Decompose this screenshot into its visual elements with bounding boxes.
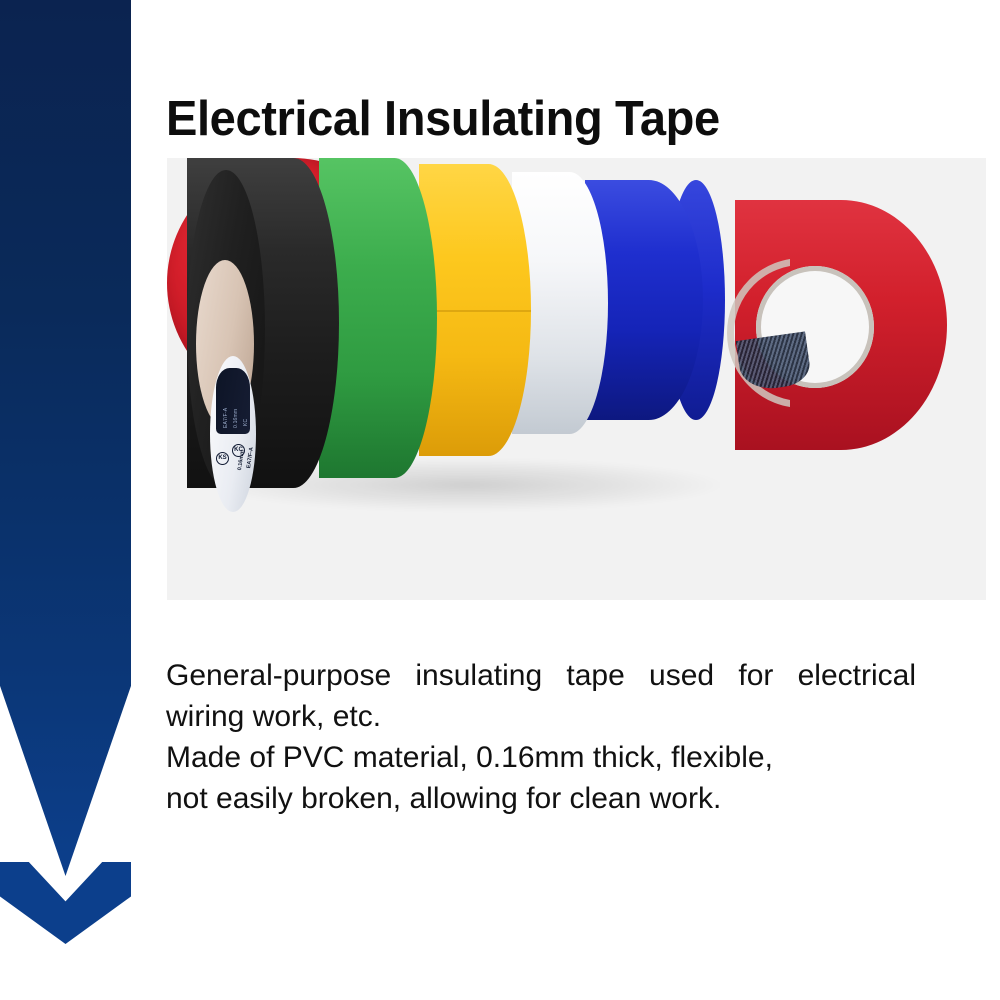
core-label-thickness-text: 0.16mm: [233, 409, 239, 428]
product-image-panel: EA7/F-A 0.16mm KC KS KC EA7/F-A 0.16mm: [167, 158, 986, 600]
left-arrow-banner: [0, 0, 131, 876]
product-description: General-purpose insulating tape used for…: [166, 655, 916, 819]
tape-roll-core-label: EA7/F-A 0.16mm KC KS KC EA7/F-A 0.16mm: [210, 356, 256, 512]
core-label-code-text: EA7/F-A: [223, 408, 229, 428]
core-label-dark-strip: EA7/F-A 0.16mm KC: [216, 368, 250, 434]
tape-roll-black: EA7/F-A 0.16mm KC KS KC EA7/F-A 0.16mm: [187, 158, 339, 488]
core-label-mark2-text: KC: [243, 419, 249, 426]
tape-roll-black-core-ring: EA7/F-A 0.16mm KC KS KC EA7/F-A 0.16mm: [196, 260, 254, 428]
description-paragraph-2-line-2: not easily broken, allowing for clean wo…: [166, 778, 916, 819]
tape-roll-black-face: EA7/F-A 0.16mm KC KS KC EA7/F-A 0.16mm: [187, 170, 265, 488]
description-paragraph-2-line-1: Made of PVC material, 0.16mm thick, flex…: [166, 737, 916, 778]
description-paragraph-1: General-purpose insulating tape used for…: [166, 655, 916, 737]
ks-certification-icon: KS: [216, 452, 229, 465]
tape-rolls-illustration: EA7/F-A 0.16mm KC KS KC EA7/F-A 0.16mm: [167, 158, 986, 600]
core-label-thickness: 0.16mm: [237, 450, 246, 471]
tape-roll-stack: EA7/F-A 0.16mm KC KS KC EA7/F-A 0.16mm: [167, 158, 986, 600]
core-label-code: EA7/F-A: [246, 447, 255, 469]
page-title: Electrical Insulating Tape: [166, 89, 934, 149]
